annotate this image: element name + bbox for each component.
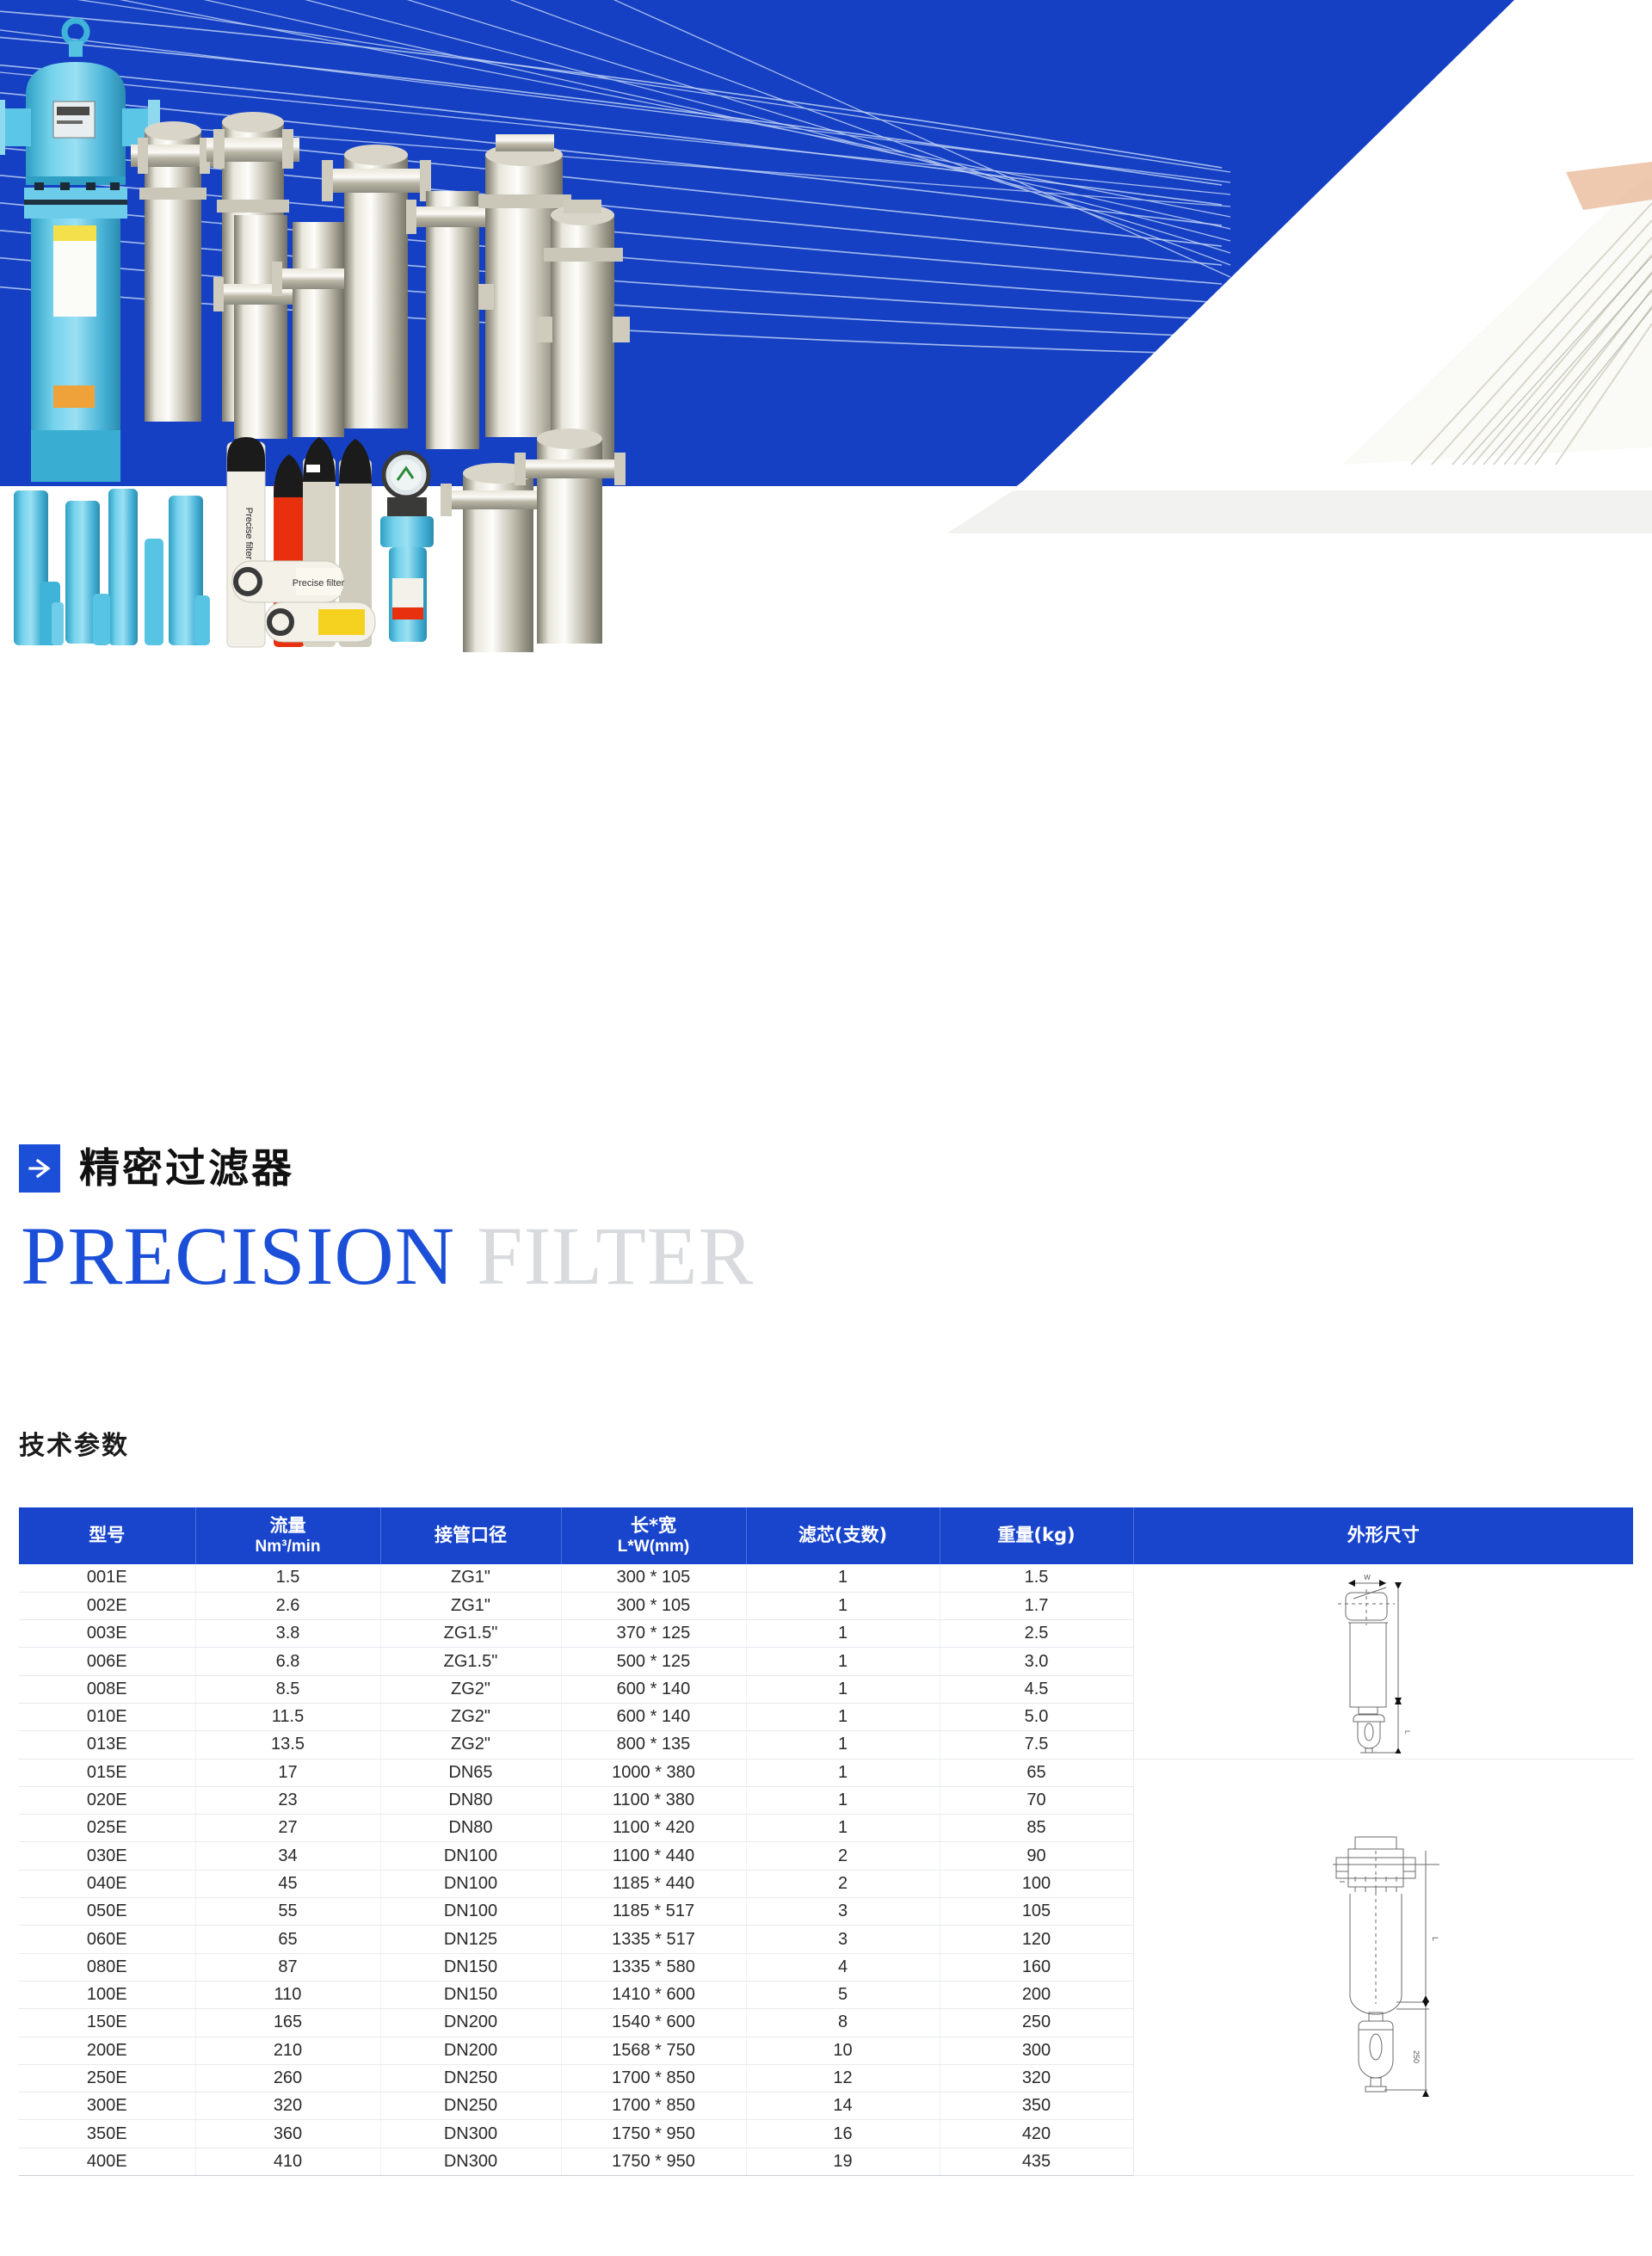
cell-weight: 5.0 (940, 1703, 1133, 1730)
cell-weight: 1.5 (940, 1564, 1133, 1592)
cell-elements: 5 (746, 1981, 940, 2008)
cyan-cartridge-row (14, 489, 210, 645)
page-title-chinese: 精密过滤器 (79, 1149, 294, 1189)
cell-port: ZG1" (380, 1592, 561, 1619)
cell-elements: 16 (746, 2120, 940, 2148)
cell-dim: 1185 * 440 (561, 1870, 746, 1897)
cell-flow: 210 (195, 2037, 380, 2064)
cell-model: 040E (19, 1870, 195, 1897)
cell-model: 060E (19, 1926, 195, 1953)
product-banner: Precise filter Precise filter (0, 0, 1652, 680)
cell-weight: 1.7 (940, 1592, 1133, 1619)
cell-model: 001E (19, 1564, 195, 1592)
cell-elements: 1 (746, 1564, 940, 1592)
cell-flow: 6.8 (195, 1648, 380, 1675)
cell-port: DN125 (380, 1926, 561, 1953)
cell-weight: 65 (940, 1759, 1133, 1786)
cell-dim: 1750 * 950 (561, 2148, 746, 2175)
title-row: 精密过滤器 (0, 1144, 1652, 1193)
cell-flow: 27 (195, 1815, 380, 1842)
cell-flow: 8.5 (195, 1675, 380, 1703)
cell-dim: 1700 * 850 (561, 2093, 746, 2120)
cell-port: ZG1.5" (380, 1620, 561, 1648)
cell-port: DN300 (380, 2148, 561, 2175)
page-title-english: PRECISION FILTER (0, 1213, 1652, 1300)
cell-weight: 120 (940, 1926, 1133, 1953)
col-header-port-main: 接管口径 (435, 1525, 507, 1545)
cell-weight: 2.5 (940, 1620, 1133, 1648)
cell-flow: 1.5 (195, 1564, 380, 1592)
cell-port: DN80 (380, 1815, 561, 1842)
cell-dim: 300 * 105 (561, 1592, 746, 1619)
cell-weight: 90 (940, 1842, 1133, 1870)
cell-port: DN300 (380, 2120, 561, 2148)
cell-dim: 1335 * 580 (561, 1953, 746, 1981)
col-header-dimension: 长*宽 L*W(mm) (561, 1507, 746, 1564)
cell-port: DN200 (380, 2009, 561, 2037)
cell-elements: 1 (746, 1759, 940, 1786)
cell-model: 008E (19, 1675, 195, 1703)
cyan-filter-with-gauge (380, 453, 434, 642)
cell-model: 350E (19, 2120, 195, 2148)
spec-table: 型号 流量 Nm³/min 接管口径 长*宽 L*W(mm) 滤芯(支数) 重量… (19, 1507, 1633, 2176)
cell-dim: 1335 * 517 (561, 1926, 746, 1953)
banner-product-photos: Precise filter Precise filter (0, 0, 1652, 680)
cell-outline-drawing: L 250 (1133, 1759, 1633, 2175)
cell-flow: 260 (195, 2064, 380, 2092)
filter-element-closeup-photo (1342, 162, 1652, 465)
cell-flow: 360 (195, 2120, 380, 2148)
cell-elements: 1 (746, 1731, 940, 1759)
cell-flow: 165 (195, 2009, 380, 2037)
cell-elements: 1 (746, 1675, 940, 1703)
cell-dim: 370 * 125 (561, 1620, 746, 1648)
cell-elements: 1 (746, 1648, 940, 1675)
cell-model: 025E (19, 1815, 195, 1842)
cell-weight: 300 (940, 2037, 1133, 2064)
branded-filter-cartridges: Precise filter Precise filter (227, 437, 375, 647)
cell-flow: 410 (195, 2148, 380, 2175)
cyan-filter-vessel (0, 21, 160, 482)
cell-port: ZG2" (380, 1675, 561, 1703)
cell-flow: 320 (195, 2093, 380, 2120)
cell-elements: 3 (746, 1898, 940, 1926)
arrow-right-icon (19, 1144, 60, 1193)
col-header-flow: 流量 Nm³/min (195, 1507, 380, 1564)
cell-model: 003E (19, 1620, 195, 1648)
cell-weight: 70 (940, 1786, 1133, 1814)
col-header-weight-main: 重量(kg) (997, 1525, 1075, 1545)
cell-weight: 250 (940, 2009, 1133, 2037)
cell-flow: 13.5 (195, 1731, 380, 1759)
cell-dim: 1568 * 750 (561, 2037, 746, 2064)
cell-model: 400E (19, 2148, 195, 2175)
cell-model: 200E (19, 2037, 195, 2064)
cell-weight: 3.0 (940, 1648, 1133, 1675)
col-header-outline: 外形尺寸 (1133, 1507, 1633, 1564)
cell-weight: 435 (940, 2148, 1133, 2175)
cell-dim: 1410 * 600 (561, 1981, 746, 2008)
svg-text:L: L (1403, 1730, 1411, 1735)
cell-weight: 320 (940, 2064, 1133, 2092)
cell-flow: 55 (195, 1898, 380, 1926)
cell-port: DN100 (380, 1870, 561, 1897)
large-filter-outline-drawing: L 250 (1310, 1825, 1457, 2109)
cell-elements: 1 (746, 1786, 940, 1814)
cell-model: 300E (19, 2093, 195, 2120)
cell-elements: 1 (746, 1703, 940, 1730)
cell-elements: 2 (746, 1842, 940, 1870)
cell-port: DN200 (380, 2037, 561, 2064)
cell-port: ZG2" (380, 1703, 561, 1730)
cell-port: DN150 (380, 1981, 561, 2008)
cell-dim: 1100 * 440 (561, 1842, 746, 1870)
cell-elements: 14 (746, 2093, 940, 2120)
cell-dim: 1750 * 950 (561, 2120, 746, 2148)
section-label-tech-params: 技术参数 (19, 1424, 129, 1462)
cell-weight: 7.5 (940, 1731, 1133, 1759)
cell-model: 080E (19, 1953, 195, 1981)
cell-flow: 2.6 (195, 1592, 380, 1619)
cell-weight: 200 (940, 1981, 1133, 2008)
page-title-block: 精密过滤器 PRECISION FILTER (0, 1144, 1652, 1300)
cell-port: DN250 (380, 2064, 561, 2092)
cell-weight: 105 (940, 1898, 1133, 1926)
cell-elements: 4 (746, 1953, 940, 1981)
spec-table-header-row: 型号 流量 Nm³/min 接管口径 长*宽 L*W(mm) 滤芯(支数) 重量… (19, 1507, 1633, 1564)
cell-port: DN100 (380, 1898, 561, 1926)
cell-model: 250E (19, 2064, 195, 2092)
cell-model: 150E (19, 2009, 195, 2037)
cell-model: 020E (19, 1786, 195, 1814)
col-header-weight: 重量(kg) (940, 1507, 1133, 1564)
cell-dim: 500 * 125 (561, 1648, 746, 1675)
col-header-elements: 滤芯(支数) (746, 1507, 940, 1564)
col-header-dimension-sub: L*W(mm) (562, 1537, 746, 1556)
table-row: 015E17DN651000 * 380165 (19, 1759, 1633, 1786)
col-header-flow-main: 流量 (270, 1515, 306, 1536)
cell-outline-drawing: W L (1133, 1564, 1633, 1759)
cell-flow: 110 (195, 1981, 380, 2008)
col-header-outline-main: 外形尺寸 (1347, 1525, 1420, 1545)
cell-dim: 1000 * 380 (561, 1759, 746, 1786)
col-header-elements-main: 滤芯(支数) (798, 1525, 887, 1545)
cell-model: 015E (19, 1759, 195, 1786)
cell-model: 002E (19, 1592, 195, 1619)
cell-elements: 1 (746, 1620, 940, 1648)
cell-port: DN150 (380, 1953, 561, 1981)
svg-text:Precise filter: Precise filter (293, 578, 345, 589)
cell-flow: 3.8 (195, 1620, 380, 1648)
cell-model: 050E (19, 1898, 195, 1926)
cell-model: 010E (19, 1703, 195, 1730)
cell-port: ZG2" (380, 1731, 561, 1759)
cell-dim: 1100 * 380 (561, 1786, 746, 1814)
col-header-dimension-main: 长*宽 (631, 1515, 676, 1536)
svg-text:L: L (1431, 1937, 1439, 1941)
svg-text:250: 250 (1412, 2050, 1421, 2063)
cell-elements: 2 (746, 1870, 940, 1897)
cell-port: ZG1" (380, 1564, 561, 1592)
cell-elements: 1 (746, 1592, 940, 1619)
cell-dim: 600 * 140 (561, 1675, 746, 1703)
cell-flow: 17 (195, 1759, 380, 1786)
page-title-english-strong: PRECISION (21, 1210, 455, 1302)
cell-flow: 23 (195, 1786, 380, 1814)
svg-text:Precise filter: Precise filter (243, 508, 254, 560)
col-header-flow-sub: Nm³/min (196, 1537, 380, 1556)
cell-model: 030E (19, 1842, 195, 1870)
cell-weight: 420 (940, 2120, 1133, 2148)
cell-port: ZG1.5" (380, 1648, 561, 1675)
cell-flow: 34 (195, 1842, 380, 1870)
table-row: 001E1.5ZG1"300 * 10511.5 W L (19, 1564, 1633, 1592)
cell-dim: 1100 * 420 (561, 1815, 746, 1842)
cell-port: DN65 (380, 1759, 561, 1786)
cell-dim: 1185 * 517 (561, 1898, 746, 1926)
cell-weight: 160 (940, 1953, 1133, 1981)
cell-dim: 800 * 135 (561, 1731, 746, 1759)
cell-elements: 8 (746, 2009, 940, 2037)
svg-text:W: W (1364, 1574, 1371, 1581)
cell-port: DN80 (380, 1786, 561, 1814)
col-header-model: 型号 (19, 1507, 195, 1564)
col-header-port: 接管口径 (380, 1507, 561, 1564)
cell-flow: 87 (195, 1953, 380, 1981)
cell-port: DN100 (380, 1842, 561, 1870)
cell-flow: 65 (195, 1926, 380, 1953)
cell-model: 006E (19, 1648, 195, 1675)
cell-model: 100E (19, 1981, 195, 2008)
cell-weight: 100 (940, 1870, 1133, 1897)
cell-dim: 300 * 105 (561, 1564, 746, 1592)
cell-elements: 12 (746, 2064, 940, 2092)
cell-flow: 11.5 (195, 1703, 380, 1730)
small-filter-outline-drawing: W L (1319, 1569, 1448, 1754)
cell-elements: 3 (746, 1926, 940, 1953)
col-header-model-main: 型号 (89, 1525, 125, 1545)
cell-weight: 350 (940, 2093, 1133, 2120)
cell-dim: 1700 * 850 (561, 2064, 746, 2092)
cell-port: DN250 (380, 2093, 561, 2120)
cell-weight: 85 (940, 1815, 1133, 1842)
cell-elements: 1 (746, 1815, 940, 1842)
page-title-english-light: FILTER (477, 1210, 755, 1302)
cell-dim: 600 * 140 (561, 1703, 746, 1730)
cell-elements: 10 (746, 2037, 940, 2064)
cell-weight: 4.5 (940, 1675, 1133, 1703)
cell-flow: 45 (195, 1870, 380, 1897)
cell-model: 013E (19, 1731, 195, 1759)
stainless-filter-cluster (131, 112, 630, 652)
cell-dim: 1540 * 600 (561, 2009, 746, 2037)
cell-elements: 19 (746, 2148, 940, 2175)
